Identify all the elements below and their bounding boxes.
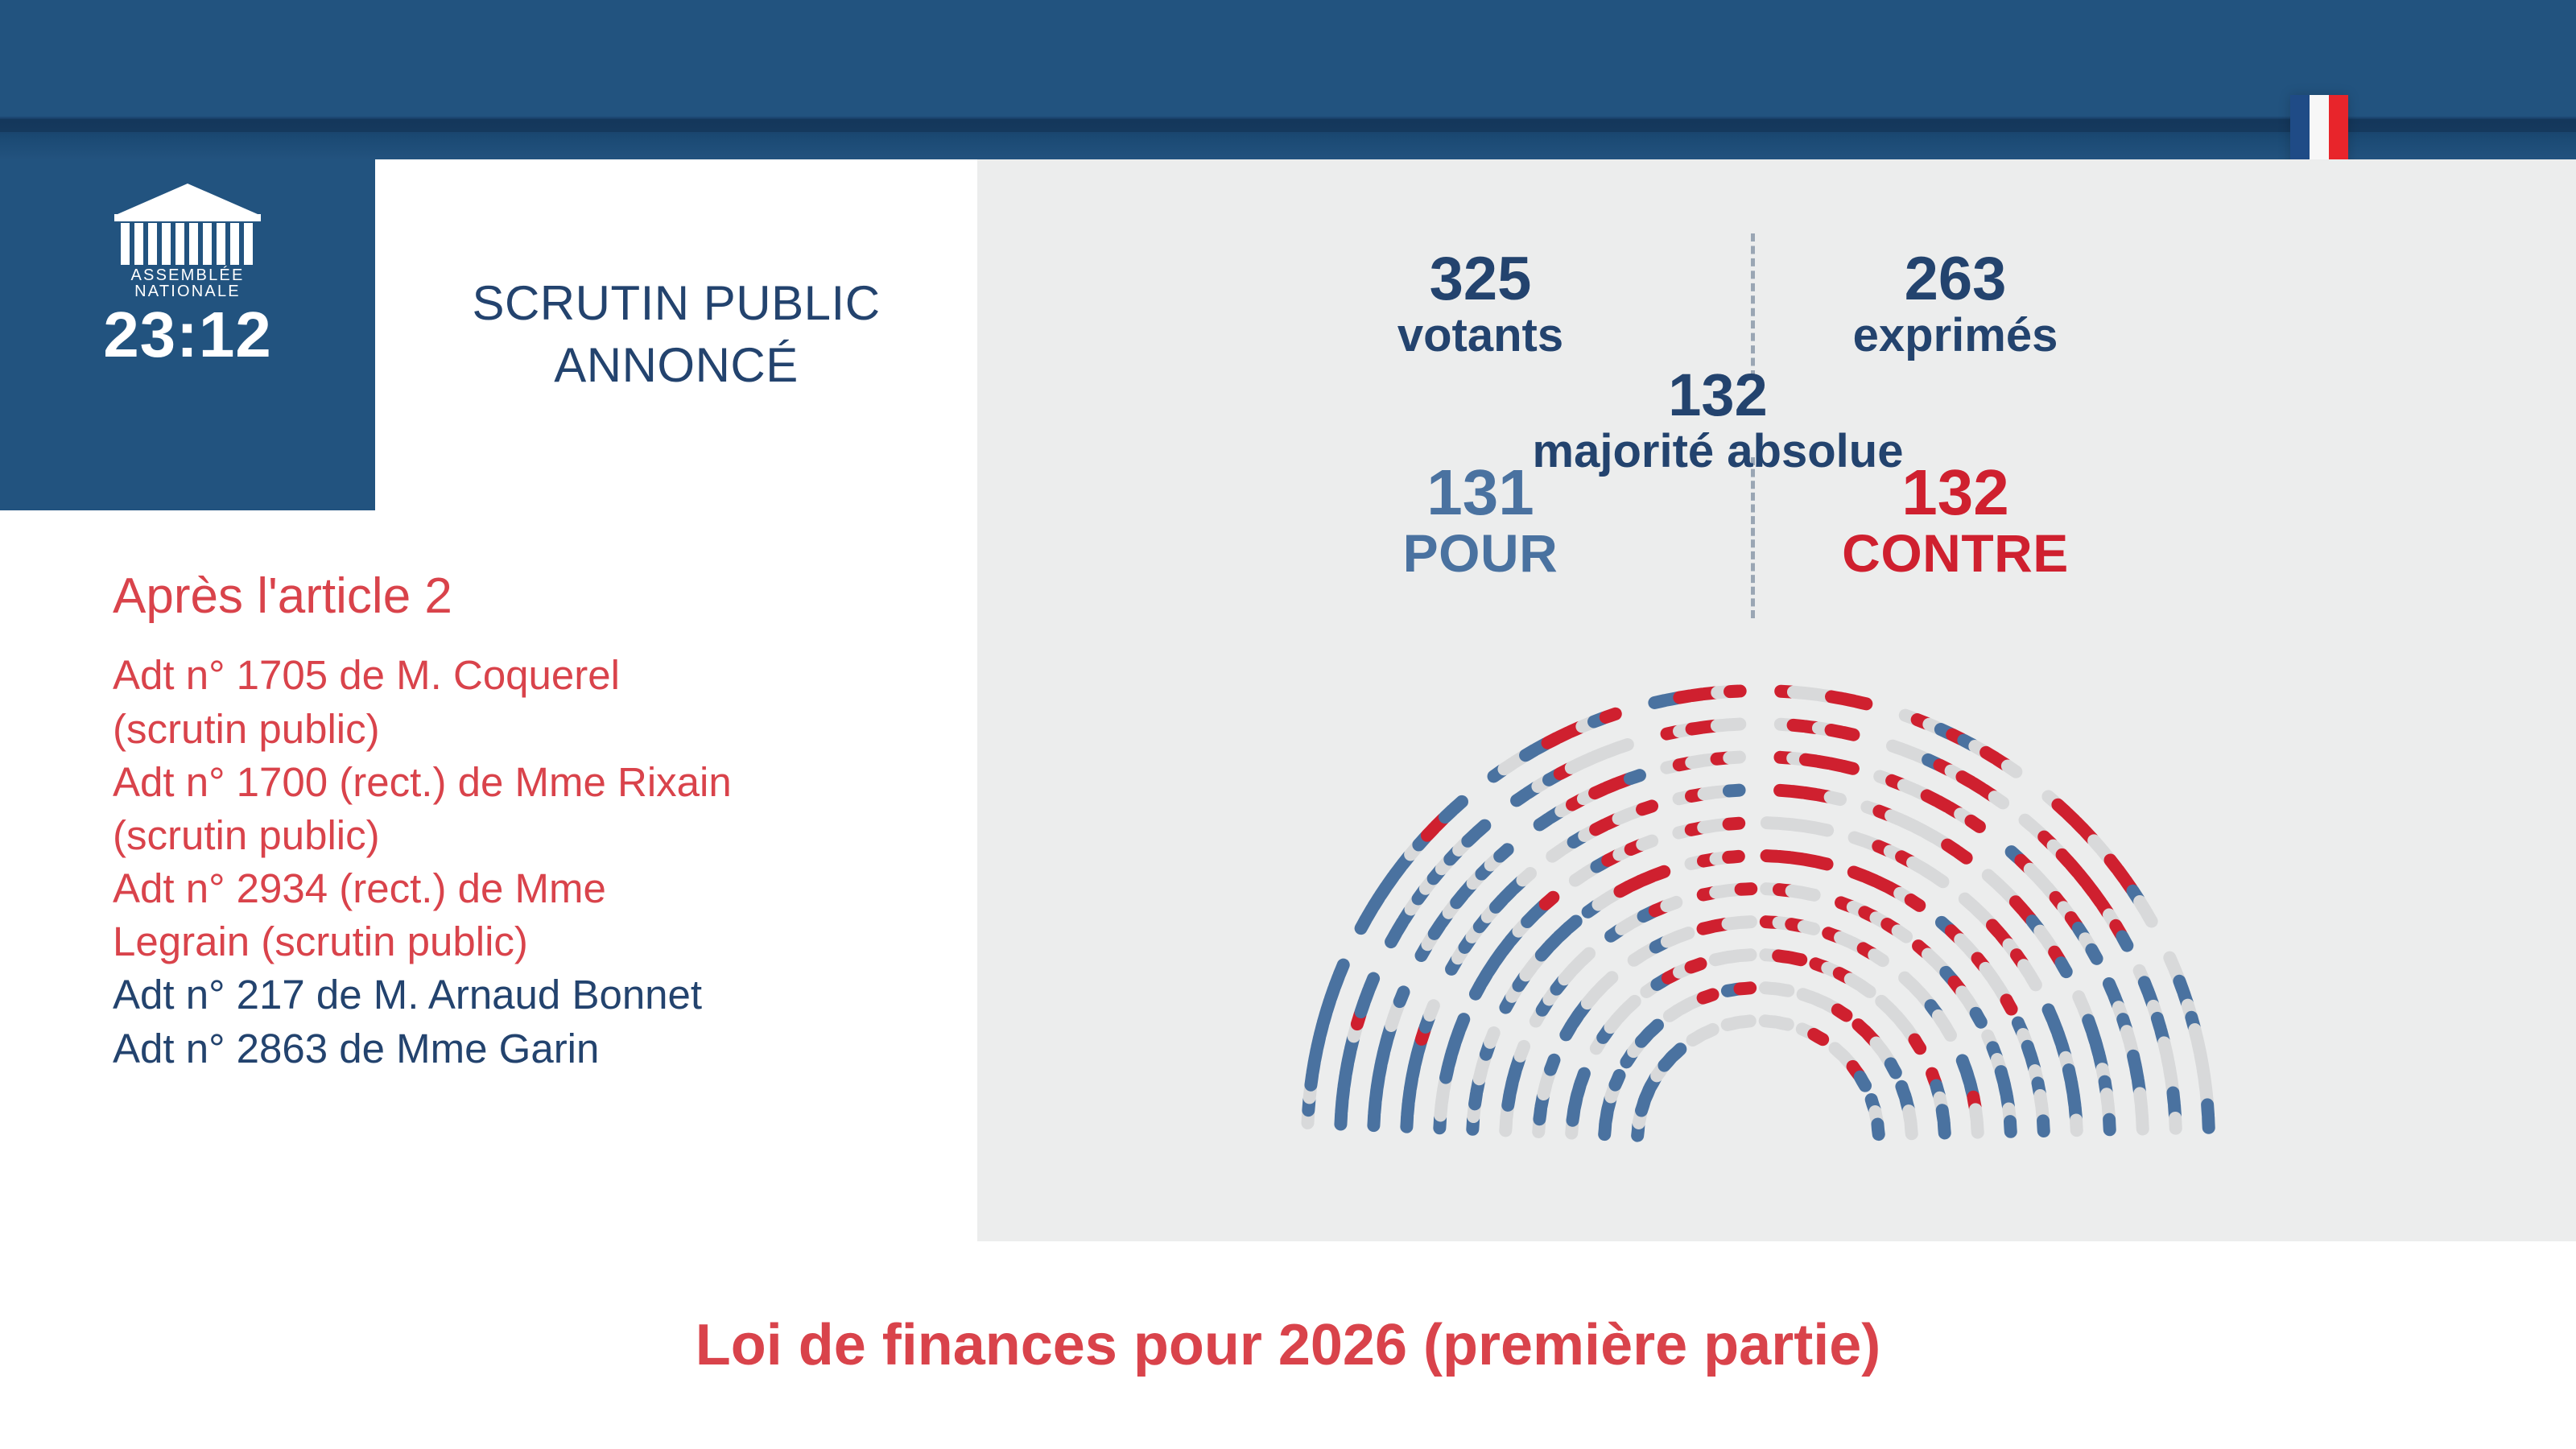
scrutin-title-panel: SCRUTIN PUBLIC ANNONCÉ (375, 159, 977, 510)
seat-pour (1650, 1026, 1657, 1033)
seat-empty (1831, 797, 1840, 799)
seat-contre (1654, 872, 1664, 875)
seat-empty (1874, 955, 1883, 960)
contre-counter: 132 CONTRE (1718, 459, 2193, 582)
seat-empty (1642, 841, 1652, 844)
seat-contre (1703, 995, 1713, 998)
seat-empty (1977, 1122, 1978, 1133)
seat-pour (1455, 802, 1462, 808)
exprimes-counter: 263 exprimés (1718, 248, 2193, 360)
votants-counter: 325 votants (1243, 248, 1718, 360)
title-line-1: SCRUTIN PUBLIC (472, 273, 880, 335)
seat-empty (1679, 933, 1689, 936)
seat-pour (1581, 1074, 1584, 1084)
amendment-line: Adt n° 1705 de M. Coquerel (113, 651, 921, 700)
seat-empty (1729, 758, 1740, 758)
seat-contre (1911, 900, 1920, 906)
pour-label: POUR (1243, 526, 1718, 582)
seat-pour (1568, 921, 1576, 927)
seat-pour (1630, 775, 1640, 778)
seat-pour (1550, 1060, 1554, 1070)
exprimes-label: exprimés (1718, 311, 2193, 360)
contre-value: 132 (1718, 459, 2193, 526)
amendment-line: Legrain (scrutin public) (113, 918, 921, 966)
seat-empty (1911, 1124, 1912, 1134)
seat-empty (2030, 976, 2035, 985)
seat-empty (1430, 1005, 1434, 1015)
seat-pour (2043, 1121, 2044, 1131)
seat-contre (1838, 1010, 1847, 1016)
seat-contre (1728, 857, 1739, 857)
seat-contre (1730, 691, 1740, 691)
assemblee-nationale-logo-block: ASSEMBLÉE NATIONALE 23:12 (0, 159, 375, 510)
majority-value: 132 (1243, 365, 2193, 427)
seat-contre (1740, 988, 1751, 989)
seat-empty (1666, 902, 1676, 906)
seat-empty (1730, 724, 1740, 725)
seat-contre (1546, 898, 1554, 904)
seat-empty (1995, 797, 2003, 803)
contre-label: CONTRE (1718, 526, 2193, 582)
seat-empty (1740, 1021, 1750, 1022)
seat-pour (1500, 849, 1507, 856)
seat-empty (1703, 1030, 1713, 1034)
assemblee-nationale-logo-icon: ASSEMBLÉE NATIONALE (103, 177, 272, 298)
seat-contre (1958, 852, 1966, 857)
seat-empty (1804, 893, 1814, 895)
seat-pour (1340, 965, 1344, 975)
seat-empty (1604, 977, 1612, 985)
seat-empty (1898, 931, 1906, 936)
votants-value: 325 (1243, 248, 1718, 311)
seat-empty (1618, 745, 1628, 748)
seat-pour (2208, 1117, 2209, 1128)
vote-results-panel: 325 votants 263 exprimés 132 majorité ab… (977, 159, 2576, 1241)
seat-empty (1490, 1033, 1494, 1042)
seat-contre (1606, 714, 1616, 717)
seat-pour (1860, 1077, 1865, 1086)
seat-contre (1843, 733, 1853, 735)
votants-label: votants (1243, 311, 1718, 360)
seat-pour (1944, 1123, 1945, 1133)
seat-pour (1729, 791, 1740, 791)
seat-empty (1818, 828, 1827, 831)
seat-pour (2091, 950, 2096, 959)
hemicycle-chart (1291, 658, 2225, 1174)
banner-title: Loi de finances pour 2026 (première part… (696, 1312, 1880, 1378)
seat-pour (2122, 936, 2127, 945)
seat-pour (1460, 1019, 1464, 1029)
seat-pour (1477, 826, 1484, 832)
seat-pour (1673, 1049, 1680, 1056)
seat-empty (2076, 1121, 2077, 1131)
page-title: SCRUTIN PUBLIC ANNONCÉ (472, 273, 880, 397)
title-line-2: ANNONCÉ (472, 335, 880, 397)
seat-contre (1843, 766, 1853, 769)
amendment-line: Adt n° 2934 (rect.) de Mme (113, 865, 921, 913)
pour-value: 131 (1243, 459, 1718, 526)
logo-line1: ASSEMBLÉE (131, 266, 245, 284)
seat-empty (1521, 1046, 1525, 1056)
seat-empty (1627, 1001, 1634, 1009)
seat-empty (2142, 1119, 2143, 1129)
seat-pour (1369, 979, 1373, 989)
amendment-line: (scrutin public) (113, 705, 921, 753)
seat-contre (1914, 1040, 1920, 1049)
hemicycle-svg (1291, 658, 2225, 1174)
amendments-panel: Après l'article 2 Adt n° 1705 de M. Coqu… (0, 510, 977, 1241)
seat-empty (2175, 1118, 2176, 1129)
seat-empty (1777, 1022, 1787, 1025)
seat-empty (1934, 876, 1942, 881)
seat-empty (1861, 986, 1869, 992)
seat-contre (1691, 964, 1701, 967)
article-heading: Après l'article 2 (113, 568, 921, 624)
exprimes-value: 263 (1718, 248, 2193, 311)
bottom-banner: Loi de finances pour 2026 (première part… (0, 1241, 2576, 1449)
pour-counter: 131 POUR (1243, 459, 1718, 582)
amendment-line: (scrutin public) (113, 811, 921, 860)
seat-contre (2007, 1000, 2012, 1009)
seat-pour (2109, 1120, 2110, 1130)
seat-empty (2008, 766, 2016, 772)
seat-empty (1740, 955, 1751, 956)
amendment-line: Adt n° 1700 (rect.) de Mme Rixain (113, 758, 921, 807)
seat-empty (1804, 927, 1814, 929)
seat-pour (1400, 992, 1404, 1001)
seat-contre (1729, 824, 1740, 824)
seat-contre (1642, 806, 1652, 809)
seat-contre (1856, 701, 1866, 704)
seat-contre (1971, 821, 1979, 827)
seat-pour (2061, 963, 2066, 972)
seat-empty (2146, 912, 2151, 921)
vote-counters: 325 votants 263 exprimés (1243, 248, 2193, 377)
verdict-counters: 131 POUR 132 CONTRE (1243, 459, 2193, 612)
seat-pour (1891, 1063, 1896, 1072)
seat-contre (1741, 889, 1752, 890)
header-bar (0, 0, 2576, 161)
seat-pour (1877, 1125, 1878, 1135)
session-clock: 23:12 (103, 303, 272, 367)
amendment-line: Adt n° 217 de M. Arnaud Bonnet (113, 971, 921, 1019)
seat-pour (2010, 1121, 2011, 1132)
seat-pour (1976, 1013, 1981, 1022)
seat-contre (1817, 862, 1827, 865)
seat-empty (1522, 873, 1530, 880)
seat-empty (1740, 922, 1751, 923)
amendment-line: Adt n° 2863 de Mme Garin (113, 1025, 921, 1073)
logo-line2: NATIONALE (134, 283, 241, 298)
seat-contre (1791, 958, 1801, 960)
seat-empty (1582, 954, 1589, 961)
seat-pour (1615, 1075, 1619, 1085)
seat-empty (1946, 1026, 1951, 1035)
seat-contre (1814, 1034, 1823, 1039)
header-accent-band (0, 119, 2576, 132)
seat-empty (1778, 989, 1788, 991)
